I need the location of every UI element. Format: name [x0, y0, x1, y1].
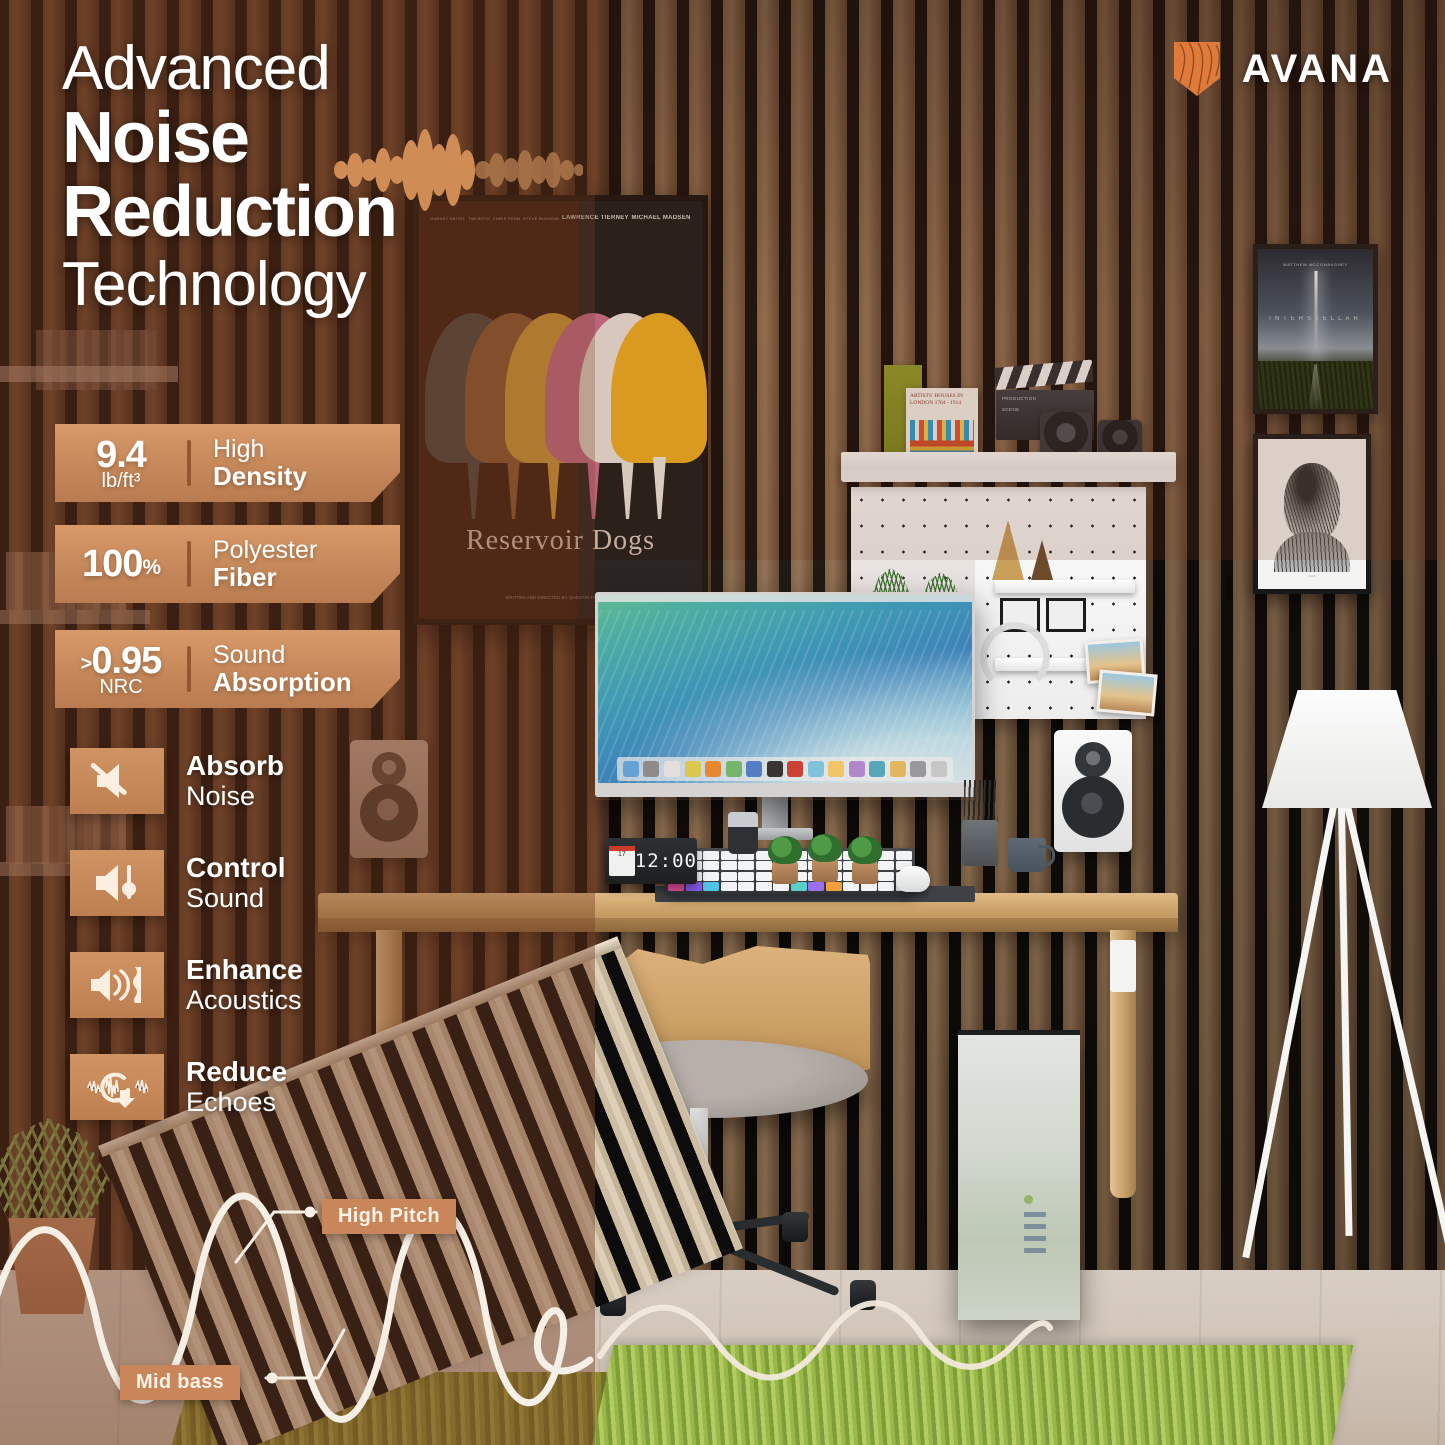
brand-name: AVANA: [1242, 47, 1393, 92]
spec-value: 9.4 lb/ft³: [55, 436, 187, 491]
spec-unit: lb/ft³: [55, 471, 187, 491]
feature-title: Control: [186, 852, 286, 883]
feature-enhance-acoustics: Enhance Acoustics: [70, 952, 303, 1018]
overlay-ui: Advanced Noise Reduction Technology: [0, 0, 1445, 1445]
brand-logo: AVANA: [1170, 38, 1393, 100]
callout-high-pitch: High Pitch: [322, 1199, 456, 1234]
spec-label-top: Polyester: [213, 537, 317, 564]
feature-title: Reduce: [186, 1056, 287, 1087]
feature-absorb-noise: Absorb Noise: [70, 748, 284, 814]
feature-title: Enhance: [186, 954, 303, 985]
speaker-slider-icon: [70, 850, 164, 916]
spec-label-top: Sound: [213, 642, 352, 669]
spec-badge-fiber: 100% Polyester Fiber: [55, 525, 400, 603]
spec-label-bottom: Fiber: [213, 564, 317, 591]
wood-grain-icon: [1170, 38, 1224, 100]
spec-label-top: High: [213, 436, 307, 463]
feature-title: Absorb: [186, 750, 284, 781]
spec-superscript: %: [142, 556, 160, 579]
spec-badge-density: 9.4 lb/ft³ High Density: [55, 424, 400, 502]
spec-number: 100: [82, 543, 142, 585]
feature-subtitle: Sound: [186, 883, 286, 914]
spec-value: 100%: [55, 545, 187, 583]
feature-subtitle: Acoustics: [186, 985, 303, 1016]
echo-reduce-loop-icon: [70, 1054, 164, 1120]
headline-line-1: Advanced: [62, 36, 622, 102]
feature-control-sound: Control Sound: [70, 850, 286, 916]
spec-unit: NRC: [55, 677, 187, 697]
spec-badge-absorption: >0.95 NRC Sound Absorption: [55, 630, 400, 708]
headline-line-4: Technology: [62, 250, 622, 320]
feature-reduce-echoes: Reduce Echoes: [70, 1054, 287, 1120]
spec-label-bottom: Absorption: [213, 669, 352, 696]
spec-label-bottom: Density: [213, 463, 307, 490]
callout-mid-bass: Mid bass: [120, 1365, 240, 1400]
spec-prefix: >: [81, 653, 92, 675]
infographic-canvas: HARVEY KEITEL TIM ROTH CHRIS PENN STEVE …: [0, 0, 1445, 1445]
spec-value: >0.95 NRC: [55, 642, 187, 697]
feature-subtitle: Noise: [186, 781, 284, 812]
divider: [187, 440, 191, 486]
speaker-panel-icon: [70, 952, 164, 1018]
audio-waveform-icon: [333, 128, 583, 212]
divider: [187, 541, 191, 587]
divider: [187, 646, 191, 692]
feature-subtitle: Echoes: [186, 1087, 287, 1118]
speaker-muted-icon: [70, 748, 164, 814]
